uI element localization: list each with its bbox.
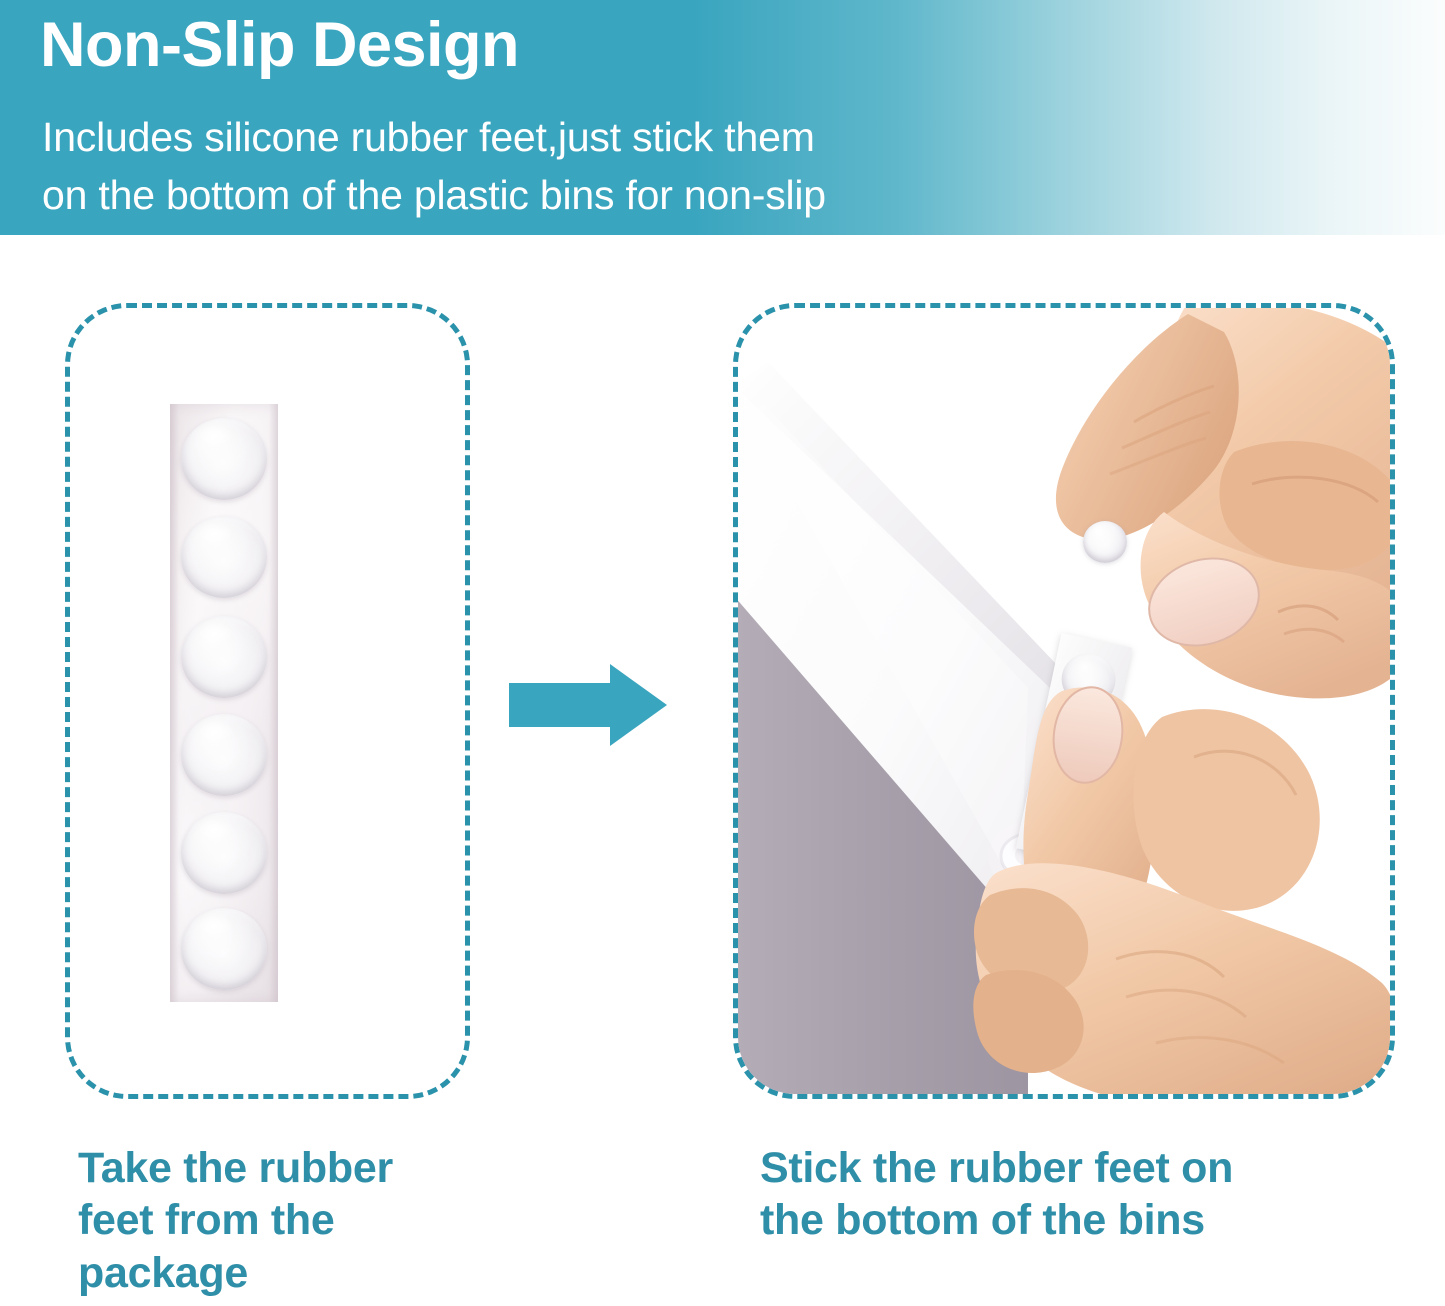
banner-subtitle-line-1: Includes silicone rubber feet,just stick… (42, 108, 826, 166)
step-1-caption-line-2: feet from the (78, 1194, 508, 1246)
rubber-foot (181, 418, 267, 500)
step-1-caption-line-3: package (78, 1247, 508, 1299)
rubber-foot (181, 908, 267, 990)
step-1-caption: Take the rubber feet from the package (78, 1142, 508, 1299)
product-infographic: Non-Slip Design Includes silicone rubber… (0, 0, 1445, 1306)
rubber-foot (181, 714, 267, 796)
step-1-panel (65, 303, 470, 1099)
highlight (198, 915, 232, 936)
rubber-foot (181, 812, 267, 894)
step-2-caption-line-1: Stick the rubber feet on (760, 1142, 1410, 1194)
banner-subtitle-line-2: on the bottom of the plastic bins for no… (42, 166, 826, 224)
rubber-foot (181, 616, 267, 698)
highlight (198, 721, 232, 742)
page-title: Non-Slip Design (40, 10, 519, 81)
step-1-caption-line-1: Take the rubber (78, 1142, 508, 1194)
step-2-caption-line-2: the bottom of the bins (760, 1194, 1410, 1246)
lower-hand (966, 683, 1395, 1099)
highlight (198, 425, 232, 446)
sticking-feet-scene (738, 308, 1390, 1094)
step-2-caption: Stick the rubber feet on the bottom of t… (760, 1142, 1410, 1247)
highlight (198, 623, 232, 644)
highlight (198, 819, 232, 840)
step-2-panel (733, 303, 1395, 1099)
header-banner: Non-Slip Design Includes silicone rubber… (0, 0, 1445, 235)
single-rubber-foot (1083, 521, 1127, 563)
highlight (198, 523, 232, 544)
rubber-foot (181, 516, 267, 598)
banner-subtitle: Includes silicone rubber feet,just stick… (42, 108, 826, 224)
right-arrow-icon (509, 664, 667, 746)
rubber-feet-strip-image (170, 404, 278, 1002)
